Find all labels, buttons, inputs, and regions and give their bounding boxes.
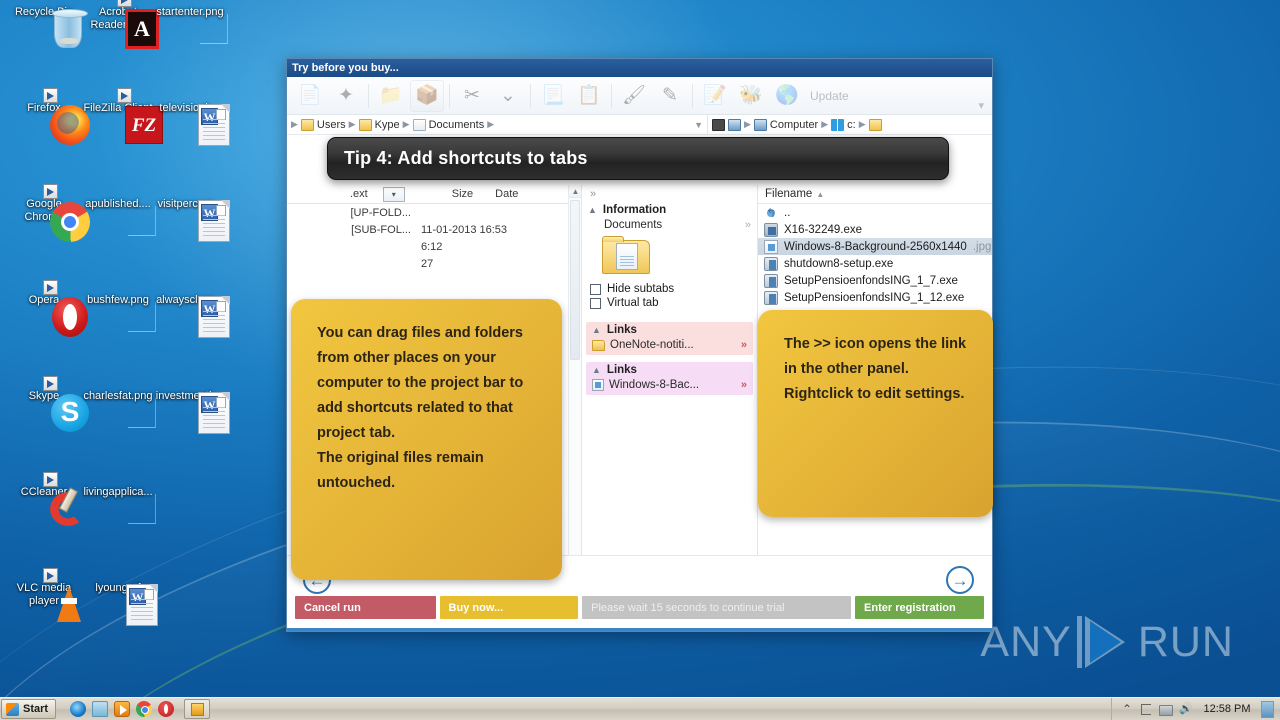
file-extension: .jpg: [973, 241, 992, 253]
anyrun-text-left: ANY: [980, 618, 1071, 667]
breadcrumb-item-label[interactable]: Users: [317, 119, 346, 131]
row-date: 6:12: [421, 241, 442, 253]
cancel-run-button[interactable]: Cancel run: [295, 596, 436, 619]
link-item-label: Windows-8-Bac...: [609, 379, 699, 391]
row-date: 27: [421, 258, 433, 270]
new-tab-icon[interactable]: 📄: [293, 80, 327, 112]
open-in-other-panel-chevron-icon[interactable]: »: [745, 219, 751, 231]
right-tip-text: The >> icon opens the link in the other …: [784, 336, 966, 402]
trial-wait-label: Please wait 15 seconds to continue trial: [591, 602, 784, 614]
shortcut-overlay-icon: [43, 88, 58, 103]
folder-icon: [869, 119, 882, 131]
buy-now-button[interactable]: Buy now...: [440, 596, 579, 619]
table-row[interactable]: ..: [758, 204, 992, 221]
table-row[interactable]: 6:12: [287, 238, 581, 255]
installer-icon: [764, 257, 778, 271]
internet-explorer-icon[interactable]: [70, 701, 86, 717]
breadcrumb-dropdown-icon[interactable]: ▼: [694, 120, 703, 130]
breadcrumb-item-label[interactable]: Kype: [375, 119, 400, 131]
breadcrumb-item-label[interactable]: Documents: [429, 119, 485, 131]
desktop-icon[interactable]: startenter.png: [152, 6, 228, 19]
desktop-icon[interactable]: Opera: [6, 294, 82, 307]
breadcrumb-left[interactable]: ▶ Users ▶ Kype ▶ Documents ▶ ▼: [287, 115, 708, 135]
documents-icon: [413, 119, 426, 131]
links-label: Links: [607, 364, 637, 376]
file-name: X16-32249.exe: [784, 224, 862, 236]
file-name: shutdown8-setup.exe: [784, 258, 893, 270]
hide-subtabs-checkbox[interactable]: [590, 284, 601, 295]
next-tip-button[interactable]: →: [946, 566, 974, 594]
shortcut-overlay-icon: [117, 88, 132, 103]
archive-icon[interactable]: 📦: [410, 80, 444, 112]
list-item[interactable]: Windows-8-Bac... »: [586, 378, 753, 392]
window-toolbar[interactable]: 📄 ✦ 📁 📦 ✂ ⌄ 📃 📋 🖌 ✎ 📝 🐝 🌎 Update ▾: [287, 77, 992, 115]
enter-registration-button[interactable]: Enter registration: [855, 596, 984, 619]
right-column-header[interactable]: Filename ▲: [758, 185, 992, 204]
down-chevron-icon[interactable]: ⌄: [491, 80, 525, 112]
desktop-icon[interactable]: Wtelevisionh...: [152, 102, 228, 115]
desktop-icon[interactable]: Wlyoung.rtf: [80, 582, 156, 595]
system-tray[interactable]: 12:58 PM: [1111, 698, 1280, 720]
taskbar-window-button[interactable]: [184, 699, 210, 719]
left-tip-bubble: You can drag files and folders from othe…: [291, 299, 562, 580]
brush-icon[interactable]: 🖌: [617, 80, 651, 112]
collapse-chevron-up-icon[interactable]: ▲: [592, 365, 601, 375]
opera-icon[interactable]: [158, 701, 174, 717]
links-label: Links: [607, 324, 637, 336]
breadcrumb-caret-icon[interactable]: ▶: [487, 119, 494, 130]
desktop-icon[interactable]: Acrobat Reader DC: [80, 6, 156, 32]
breadcrumb-caret-icon[interactable]: ▶: [403, 119, 410, 130]
desktop-icon[interactable]: Firefox: [6, 102, 82, 115]
tip-banner: Tip 4: Add shortcuts to tabs: [327, 137, 949, 180]
breadcrumb-caret-icon[interactable]: ▶: [821, 119, 828, 130]
wand-icon[interactable]: ✦: [329, 80, 363, 112]
links-section-header[interactable]: ▲ Links: [586, 362, 753, 378]
desktop-icon[interactable]: Skype: [6, 390, 82, 403]
file-name: Windows-8-Background-2560x1440: [784, 241, 967, 253]
links-section-header[interactable]: ▲ Links: [586, 322, 753, 338]
open-in-other-panel-chevron-icon[interactable]: »: [741, 339, 747, 351]
information-label: Information: [603, 204, 666, 216]
panes-container: .ext ▾ Size Date [UP-FOLD... [SUB-FOL...…: [287, 185, 992, 555]
shortcut-overlay-icon: [43, 472, 58, 487]
toolbar-update-label[interactable]: Update: [810, 89, 849, 103]
shortcut-overlay-icon: [43, 184, 58, 199]
row-tag: [UP-FOLD...: [291, 207, 411, 219]
buy-now-label: Buy now...: [449, 602, 504, 614]
taskbar[interactable]: Start 12:58 PM: [0, 697, 1280, 720]
enter-registration-label: Enter registration: [864, 602, 956, 614]
scrollbar-thumb[interactable]: [570, 200, 580, 360]
desktop[interactable]: Recycle BinAcrobat Reader DCstartenter.p…: [0, 0, 1280, 720]
application-icon: [191, 703, 204, 716]
folder-icon: [592, 340, 605, 351]
column-header-ext[interactable]: .ext: [345, 188, 373, 200]
shortcut-overlay-icon: [43, 280, 58, 295]
table-row[interactable]: 27: [287, 255, 581, 272]
table-row[interactable]: SetupPensioenfondsING_1_7.exe: [758, 272, 992, 289]
sort-ascending-icon[interactable]: ▲: [816, 190, 824, 199]
computer-icon: [754, 119, 767, 131]
folder-icon: [359, 119, 372, 131]
breadcrumb-caret-icon[interactable]: ▶: [349, 119, 356, 130]
desktop-icon[interactable]: Recycle Bin: [6, 6, 82, 19]
up-folder-icon: [764, 206, 778, 220]
windows-media-player-icon[interactable]: [114, 701, 130, 717]
folder-icon: [301, 119, 314, 131]
file-name: ..: [784, 207, 790, 219]
installer-icon: [764, 274, 778, 288]
documents-label: Documents: [604, 219, 662, 231]
action-center-flag-icon[interactable]: [1141, 704, 1151, 715]
paste-icon[interactable]: 📋: [572, 80, 606, 112]
breadcrumb-caret-icon[interactable]: ▶: [744, 119, 751, 130]
breadcrumb-right[interactable]: ▶ Computer ▶ c: ▶: [708, 115, 992, 135]
breadcrumb-item-label[interactable]: Computer: [770, 119, 818, 131]
desktop-icon[interactable]: Google Chrome: [6, 198, 82, 224]
image-icon: [592, 379, 604, 391]
exe-icon: [764, 223, 778, 237]
info-pane-overflow-icon[interactable]: »: [582, 185, 757, 202]
desktop-icon[interactable]: charlesfat.png: [80, 390, 156, 403]
column-header-filename[interactable]: Filename: [765, 188, 812, 200]
windows-icon: [831, 119, 844, 131]
cut-icon[interactable]: ✂: [455, 80, 489, 112]
dark-icon: [712, 119, 725, 131]
toolbar-separator: [530, 84, 531, 108]
window-title: Try before you buy...: [292, 62, 399, 74]
show-hidden-icons-chevron-icon[interactable]: [1120, 702, 1134, 716]
toolbar-separator: [611, 84, 612, 108]
preview-icon[interactable]: 📝: [698, 80, 732, 112]
toolbar-overflow-chevron-down-icon[interactable]: ▾: [978, 99, 984, 112]
application-window[interactable]: Try before you buy... 📄 ✦ 📁 📦 ✂ ⌄ 📃 📋 🖌 …: [286, 58, 993, 632]
left-tip-text: You can drag files and folders from othe…: [317, 325, 523, 491]
installer-icon: [764, 291, 778, 305]
table-row[interactable]: [UP-FOLD...: [287, 204, 581, 221]
left-file-pane[interactable]: .ext ▾ Size Date [UP-FOLD... [SUB-FOL...…: [287, 185, 581, 555]
documents-row[interactable]: Documents »: [582, 218, 757, 232]
action-button-row: Cancel run Buy now... Please wait 15 sec…: [287, 596, 992, 619]
right-file-pane[interactable]: Filename ▲ .. X16-32249.exe Windows-8-Ba…: [757, 185, 992, 555]
table-row[interactable]: Windows-8-Background-2560x1440.jpg: [758, 238, 992, 255]
breadcrumb-caret-icon[interactable]: ▶: [291, 119, 298, 130]
column-header-date[interactable]: Date: [490, 188, 523, 200]
desktop-icon[interactable]: CCleaner: [6, 486, 82, 499]
arrow-right-icon: →: [952, 572, 969, 589]
virtual-tab-checkbox[interactable]: [590, 298, 601, 309]
start-label: Start: [23, 703, 48, 715]
desktop-icon[interactable]: bushfew.png: [80, 294, 156, 307]
right-tip-bubble: The >> icon opens the link in the other …: [758, 310, 993, 517]
shortcut-overlay-icon: [43, 568, 58, 583]
cancel-run-label: Cancel run: [304, 602, 361, 614]
breadcrumb-caret-icon[interactable]: ▶: [859, 119, 866, 130]
list-item[interactable]: OneNote-notiti... »: [586, 338, 753, 352]
bug-icon[interactable]: 🐝: [734, 80, 768, 112]
toolbar-separator: [692, 84, 693, 108]
left-pane-scrollbar[interactable]: ▲: [568, 185, 581, 555]
folder-icon[interactable]: [92, 701, 108, 717]
info-pane[interactable]: » ▲ Information Documents » Hide subtabs: [581, 185, 757, 555]
network-icon[interactable]: [1158, 702, 1172, 716]
start-button[interactable]: Start: [1, 699, 56, 719]
desktop-icon[interactable]: Wvisitpercent...: [152, 198, 228, 211]
quick-launch-bar[interactable]: [70, 701, 174, 717]
clock[interactable]: 12:58 PM: [1200, 703, 1254, 715]
windows-logo-icon: [6, 703, 19, 716]
virtual-tab-row[interactable]: Virtual tab: [582, 296, 757, 310]
open-in-other-panel-chevron-icon[interactable]: »: [741, 379, 747, 391]
column-filter-dropdown[interactable]: ▾: [383, 187, 405, 202]
google-chrome-icon[interactable]: [136, 701, 152, 717]
link-item-label: OneNote-notiti...: [610, 339, 694, 351]
desktop-icon[interactable]: FileZilla Client: [80, 102, 156, 115]
trial-wait-status: Please wait 15 seconds to continue trial: [582, 596, 851, 619]
desktop-icon[interactable]: Walwaysclass...: [152, 294, 228, 307]
open-folder-icon[interactable]: 📁: [374, 80, 408, 112]
desktop-icon[interactable]: apublished....: [80, 198, 156, 211]
table-row[interactable]: X16-32249.exe: [758, 221, 992, 238]
tip-banner-title: Tip 4: Add shortcuts to tabs: [344, 148, 588, 169]
toolbar-separator: [368, 84, 369, 108]
documents-folder-icon: [602, 236, 652, 276]
table-row[interactable]: SetupPensioenfondsING_1_12.exe: [758, 289, 992, 306]
row-tag: [SUB-FOL...: [291, 224, 411, 236]
table-row[interactable]: [SUB-FOL... 11-01-2013 16:53: [287, 221, 581, 238]
image-icon: [764, 240, 778, 254]
row-date: 11-01-2013 16:53: [421, 224, 507, 236]
window-titlebar[interactable]: Try before you buy...: [287, 59, 992, 77]
desktop-icon[interactable]: Winvestmenth...: [152, 390, 228, 403]
breadcrumb-row[interactable]: ▶ Users ▶ Kype ▶ Documents ▶ ▼ ▶ Compute…: [287, 115, 992, 135]
file-name: SetupPensioenfondsING_1_12.exe: [784, 292, 964, 304]
column-header-size[interactable]: Size: [447, 188, 478, 200]
anyrun-watermark: ANY RUN: [980, 616, 1234, 668]
edit-icon[interactable]: ✎: [653, 80, 687, 112]
bottom-accent-bar: [287, 628, 992, 631]
anyrun-play-logo-icon: [1077, 616, 1133, 668]
monitor-icon: [728, 119, 741, 131]
anyrun-text-right: RUN: [1138, 618, 1234, 667]
table-row[interactable]: shutdown8-setup.exe: [758, 255, 992, 272]
file-name: SetupPensioenfondsING_1_7.exe: [784, 275, 958, 287]
information-section-header[interactable]: ▲ Information: [582, 202, 757, 218]
shortcut-overlay-icon: [117, 0, 132, 7]
hide-subtabs-label: Hide subtabs: [607, 283, 674, 295]
desktop-icon[interactable]: VLC media player: [6, 582, 82, 608]
copy-icon[interactable]: 📃: [536, 80, 570, 112]
volume-icon[interactable]: [1179, 702, 1193, 716]
breadcrumb-item-label[interactable]: c:: [847, 119, 856, 131]
toolbar-separator: [449, 84, 450, 108]
shortcut-overlay-icon: [43, 376, 58, 391]
links-section-one[interactable]: ▲ Links OneNote-notiti... »: [586, 322, 753, 355]
hide-subtabs-row[interactable]: Hide subtabs: [582, 282, 757, 296]
collapse-chevron-up-icon[interactable]: ▲: [592, 325, 601, 335]
links-section-two[interactable]: ▲ Links Windows-8-Bac... »: [586, 362, 753, 395]
collapse-chevron-up-icon[interactable]: ▲: [588, 205, 597, 215]
left-column-header[interactable]: .ext ▾ Size Date: [287, 185, 581, 204]
virtual-tab-label: Virtual tab: [607, 297, 659, 309]
show-desktop-button[interactable]: [1261, 701, 1274, 718]
desktop-icon[interactable]: livingapplica...: [80, 486, 156, 499]
globe-icon[interactable]: 🌎: [770, 80, 804, 112]
